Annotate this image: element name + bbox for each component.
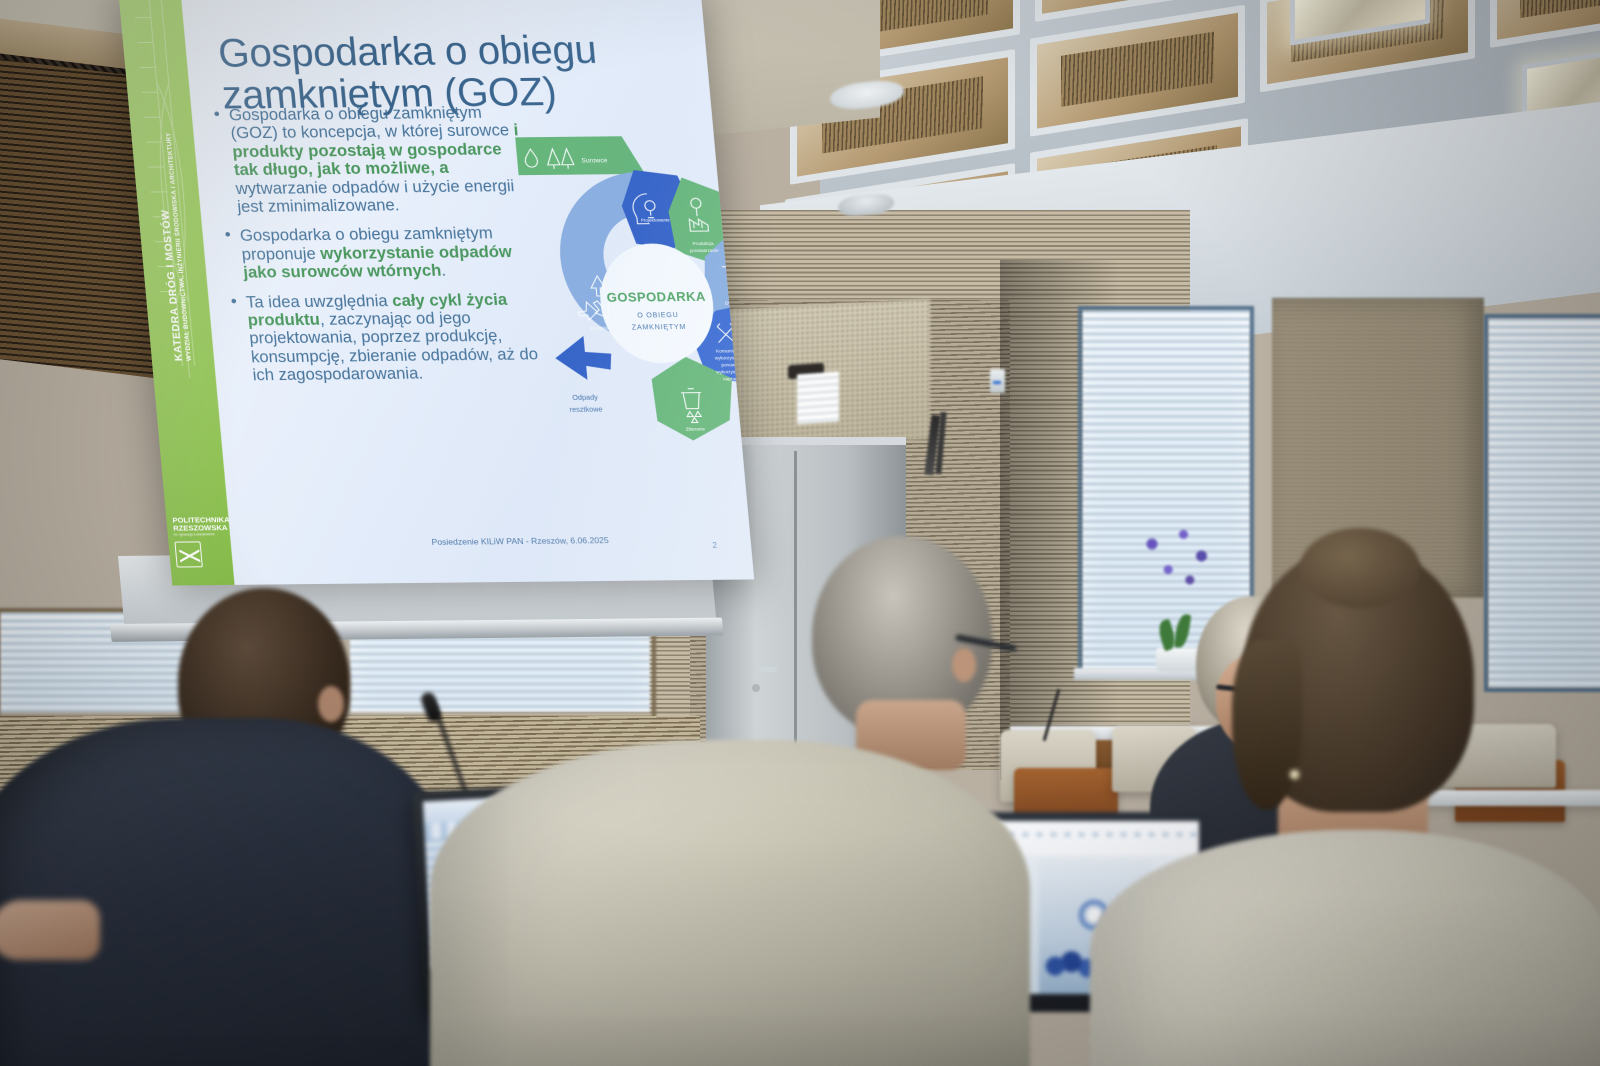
segment-label-recykling: Recykling: [591, 326, 612, 331]
slide-content: Gospodarka o obiegu zamkniętym (GOZ) Gos…: [180, 0, 754, 585]
segment-label-produkcja-2: przetwarzanie: [690, 248, 720, 253]
university-logo-mark-icon: [174, 541, 202, 567]
university-logo: POLITECHNIKA RZESZOWSKA im. Ignacego Łuk…: [172, 516, 227, 567]
diagram-output-label-1: Odpady: [572, 393, 599, 402]
diagram-input-banner: Surowce: [515, 136, 645, 175]
segment-label-produkcja-1: Produkcja,: [692, 241, 714, 246]
segment-label-zbieranie: Zbieranie: [686, 426, 706, 431]
diagram-center-sub-1: O OBIEGU: [637, 310, 679, 319]
list-item: Gospodarka o obiegu zamkniętym (GOZ) to …: [213, 103, 529, 216]
paper-roll: [797, 372, 839, 425]
person-right-hair-bun: [1300, 528, 1420, 608]
door-lock[interactable]: [752, 684, 760, 692]
projection-screen: KATEDRA DRÓG I MOSTÓW WYDZIAŁ BUDOWNICTW…: [118, 0, 754, 586]
segment-label-projektowanie: Projektowanie: [641, 217, 671, 222]
diagram-center-title: GOSPODARKA: [606, 289, 706, 305]
slide-page-number: 2: [712, 541, 717, 550]
person-left-hand: [0, 900, 100, 960]
conference-room-scene: KATEDRA DRÓG I MOSTÓW WYDZIAŁ BUDOWNICTW…: [0, 0, 1600, 1066]
bullet-text-plain: .: [440, 261, 446, 280]
window-frame: [1484, 314, 1600, 692]
bullet-text-plain: Gospodarka o obiegu zamkniętym (GOZ) to …: [228, 103, 514, 143]
slide-bullet-list: Gospodarka o obiegu zamkniętym (GOZ) to …: [213, 103, 545, 396]
list-item: Gospodarka o obiegu zamkniętym proponuje…: [224, 224, 535, 282]
door-split-line: [794, 451, 797, 781]
presentation-slide: KATEDRA DRÓG I MOSTÓW WYDZIAŁ BUDOWNICTW…: [118, 0, 754, 586]
person-left-body: [0, 718, 460, 1066]
person-right-top-texture: [1090, 830, 1600, 1066]
diagram-input-label: Surowce: [581, 157, 608, 164]
person-center-ear: [952, 648, 976, 682]
motion-sensor-icon: [990, 369, 1005, 393]
person-center-shirt-texture: [430, 740, 1030, 1066]
person-right-hair-lock: [1232, 640, 1302, 810]
diagram-output-label-2: resztkowe: [569, 405, 603, 414]
bullet-text-plain: Ta idea uwzględnia: [245, 291, 393, 311]
university-name-line3: im. Ignacego Łukasiewicza: [174, 532, 225, 538]
slide-footer: Posiedzenie KILiW PAN - Rzeszów, 6.06.20…: [431, 535, 609, 547]
list-item: Ta idea uwzględnia cały cykl życia produ…: [230, 290, 544, 385]
person-left-ear: [318, 686, 344, 722]
bullet-text-plain: wytwarzanie odpadów i użycie energii jes…: [235, 176, 515, 216]
door-handle[interactable]: [757, 667, 777, 672]
diagram-center-sub-2: ZAMKNIĘTYM: [631, 322, 686, 332]
earring: [1290, 770, 1299, 779]
